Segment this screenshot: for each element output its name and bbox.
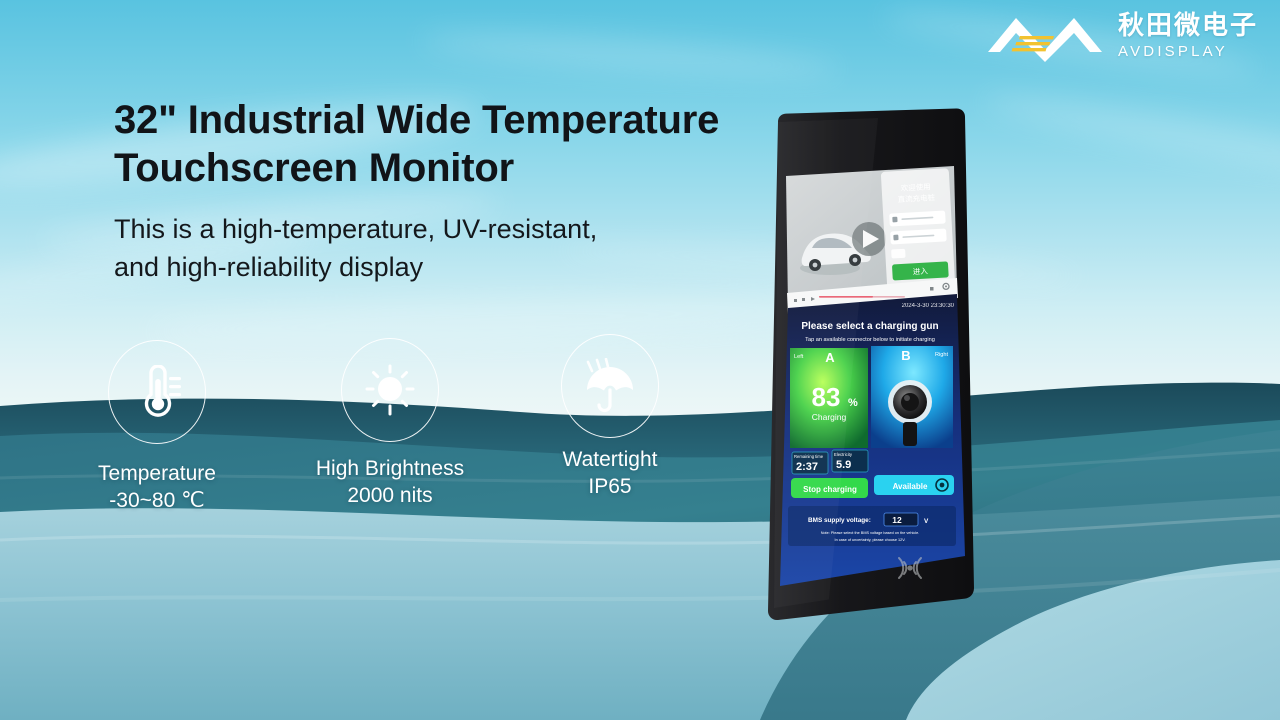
bms-value: 12	[892, 515, 902, 525]
feature-watertight: Watertight IP65	[510, 334, 710, 501]
user-icon	[892, 217, 897, 223]
feature-icon-ring	[341, 338, 439, 442]
brand-logo: 秋田微电子 AVDISPLAY	[986, 8, 1258, 64]
feature-temperature: Temperature -30~80 ℃	[57, 340, 257, 515]
feature-brightness: High Brightness 2000 nits	[290, 338, 490, 510]
kiosk-device: 欢迎使用 直流充电桩 进入	[758, 108, 982, 620]
bms-unit: V	[924, 518, 929, 525]
feature-label: Temperature -30~80 ℃	[57, 460, 257, 515]
gun-a-percent-unit: %	[848, 397, 858, 409]
connector-cable	[903, 422, 917, 446]
gun-b-card[interactable]: Right B	[871, 346, 953, 448]
sun-icon	[363, 363, 417, 417]
gun-b-button-label: Available	[893, 482, 928, 491]
headline-line-1: 32" Industrial Wide Temperature	[114, 96, 774, 144]
feature-icon-ring	[108, 340, 206, 444]
charging-timestamp: 2024-3-30 23:30:30	[902, 303, 955, 309]
subhead-line-2: and high-reliability display	[114, 248, 774, 286]
hero-copy: 32" Industrial Wide Temperature Touchscr…	[114, 96, 774, 287]
gun-b-letter: B	[901, 348, 910, 363]
welcome-line-1: 欢迎使用	[900, 181, 931, 193]
login-submit-label: 进入	[913, 266, 929, 276]
avdisplay-wave-logo-icon	[986, 8, 1104, 64]
feature-label: Watertight IP65	[510, 446, 710, 501]
lock-icon	[893, 235, 898, 241]
brand-name-block: 秋田微电子 AVDISPLAY	[1118, 13, 1258, 59]
thermometer-icon	[131, 365, 183, 419]
volume-icon	[930, 287, 934, 291]
subhead-line-1: This is a high-temperature, UV-resistant…	[114, 210, 774, 248]
kiosk-screen: 欢迎使用 直流充电桩 进入	[774, 118, 965, 608]
feature-label: High Brightness 2000 nits	[290, 455, 490, 510]
login-field-c	[891, 249, 905, 259]
feature-icon-ring	[561, 334, 659, 438]
page-subtitle: This is a high-temperature, UV-resistant…	[114, 210, 774, 287]
welcome-line-2: 直流充电桩	[897, 192, 935, 204]
headline-line-2: Touchscreen Monitor	[114, 144, 774, 192]
page-title: 32" Industrial Wide Temperature Touchscr…	[114, 96, 774, 192]
brand-name-en: AVDISPLAY	[1118, 44, 1228, 59]
gun-b-action-button[interactable]: Available	[874, 475, 954, 495]
bms-hint-line-2: In case of uncertainty, please choose 12…	[835, 538, 906, 542]
gun-b-side-label: Right	[935, 352, 949, 358]
slide-canvas: 秋田微电子 AVDISPLAY 32" Industrial Wide Temp…	[0, 0, 1280, 720]
brand-name-cn: 秋田微电子	[1118, 13, 1258, 39]
umbrella-rain-icon	[582, 358, 638, 414]
